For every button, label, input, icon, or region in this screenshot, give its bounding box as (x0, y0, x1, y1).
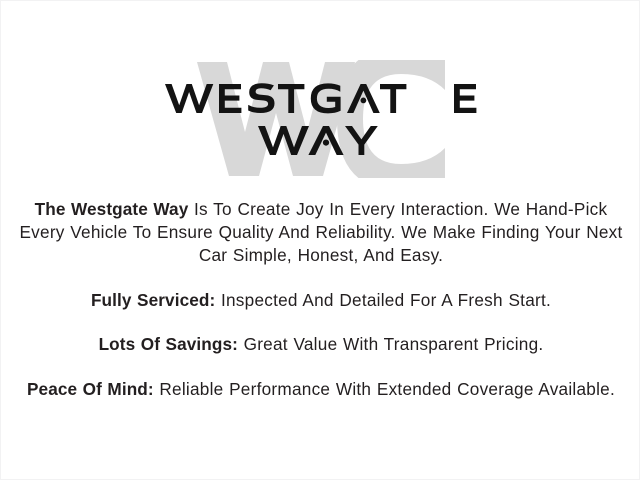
logo-wordmark-way (257, 123, 385, 162)
benefit-text-fully-serviced: Inspected And Detailed For A Fresh Start… (215, 290, 551, 310)
brand-logo (1, 53, 640, 185)
benefit-item-fully-serviced: Fully Serviced: Inspected And Detailed F… (13, 289, 629, 313)
benefit-item-peace-of-mind: Peace Of Mind: Reliable Performance With… (13, 378, 629, 402)
benefit-text-peace-of-mind: Reliable Performance With Extended Cover… (154, 379, 615, 399)
benefit-lead-peace-of-mind: Peace Of Mind: (27, 379, 154, 399)
benefit-item-lots-of-savings: Lots Of Savings: Great Value With Transp… (13, 333, 629, 357)
logo-wordmark-westgate (164, 81, 478, 120)
value-proposition-copy: The Westgate Way Is To Create Joy In Eve… (1, 198, 640, 401)
intro-lead: The Westgate Way (35, 199, 189, 219)
intro-paragraph: The Westgate Way Is To Create Joy In Eve… (13, 198, 629, 268)
benefit-text-lots-of-savings: Great Value With Transparent Pricing. (238, 334, 543, 354)
benefit-lead-lots-of-savings: Lots Of Savings: (99, 334, 238, 354)
promo-card: The Westgate Way Is To Create Joy In Eve… (0, 0, 640, 480)
benefit-lead-fully-serviced: Fully Serviced: (91, 290, 215, 310)
logo-wordmark-group (1, 53, 640, 185)
